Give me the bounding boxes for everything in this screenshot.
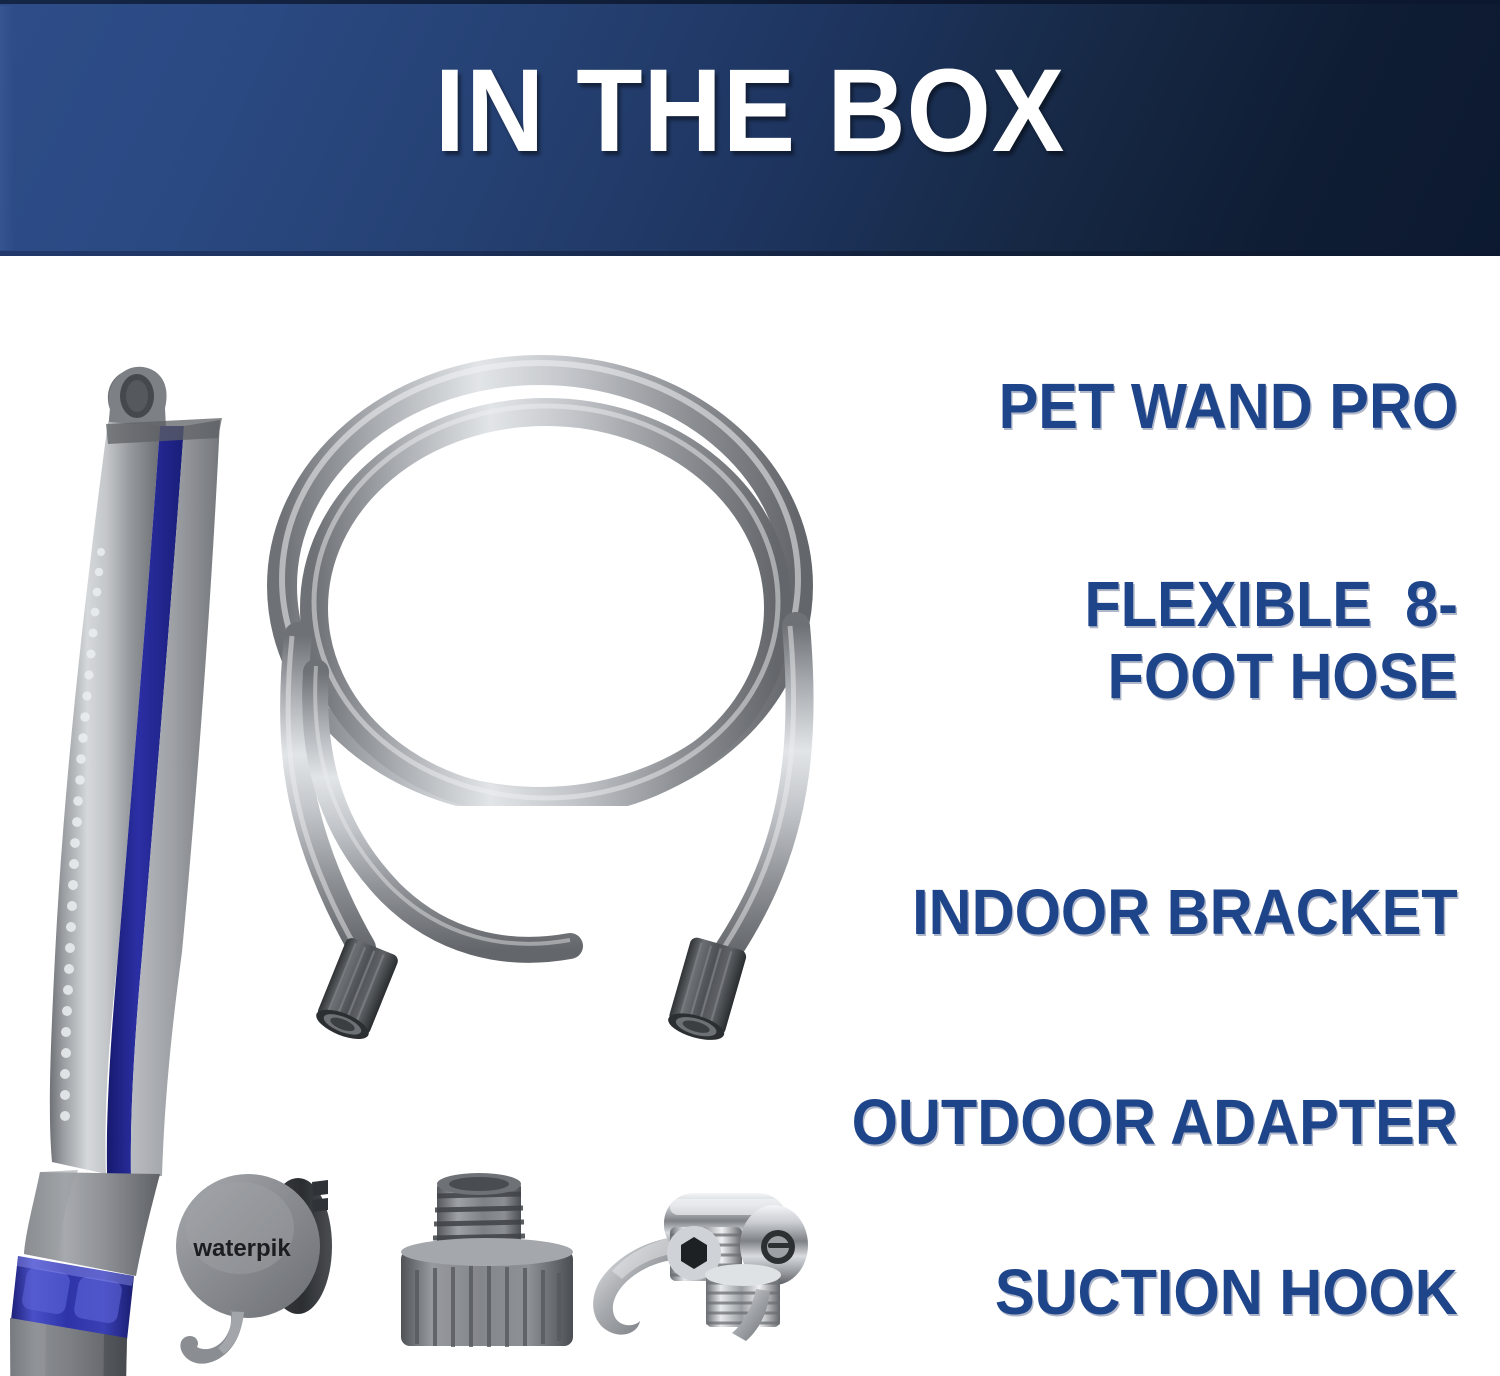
- product-outdoor-adapter: [395, 1174, 580, 1354]
- suction-hook-disc: waterpik: [176, 1174, 320, 1318]
- wand-tip-hook: [108, 367, 167, 430]
- label-column: PET WAND PRO FLEXIBLE 8- FOOT HOSE INDOO…: [758, 256, 1458, 1375]
- waterpik-brand-text: waterpik: [192, 1235, 291, 1262]
- label-outdoor-adapter: OUTDOOR ADAPTER: [852, 1086, 1458, 1158]
- banner-sheen: [0, 6, 14, 250]
- product-stage: waterpik: [0, 256, 820, 1375]
- label-pet-wand-pro: PET WAND PRO: [998, 370, 1458, 442]
- label-suction-hook: SUCTION HOOK: [995, 1256, 1458, 1328]
- label-indoor-bracket: INDOOR BRACKET: [912, 876, 1458, 948]
- product-suction-hook: waterpik: [170, 1166, 360, 1376]
- label-flexible-hose: FLEXIBLE 8- FOOT HOSE: [881, 568, 1458, 712]
- page-title: IN THE BOX: [60, 52, 1440, 170]
- header-banner: IN THE BOX: [0, 0, 1500, 256]
- adapter-ribbed-base: [401, 1238, 573, 1347]
- product-flexible-hose: [240, 336, 840, 1036]
